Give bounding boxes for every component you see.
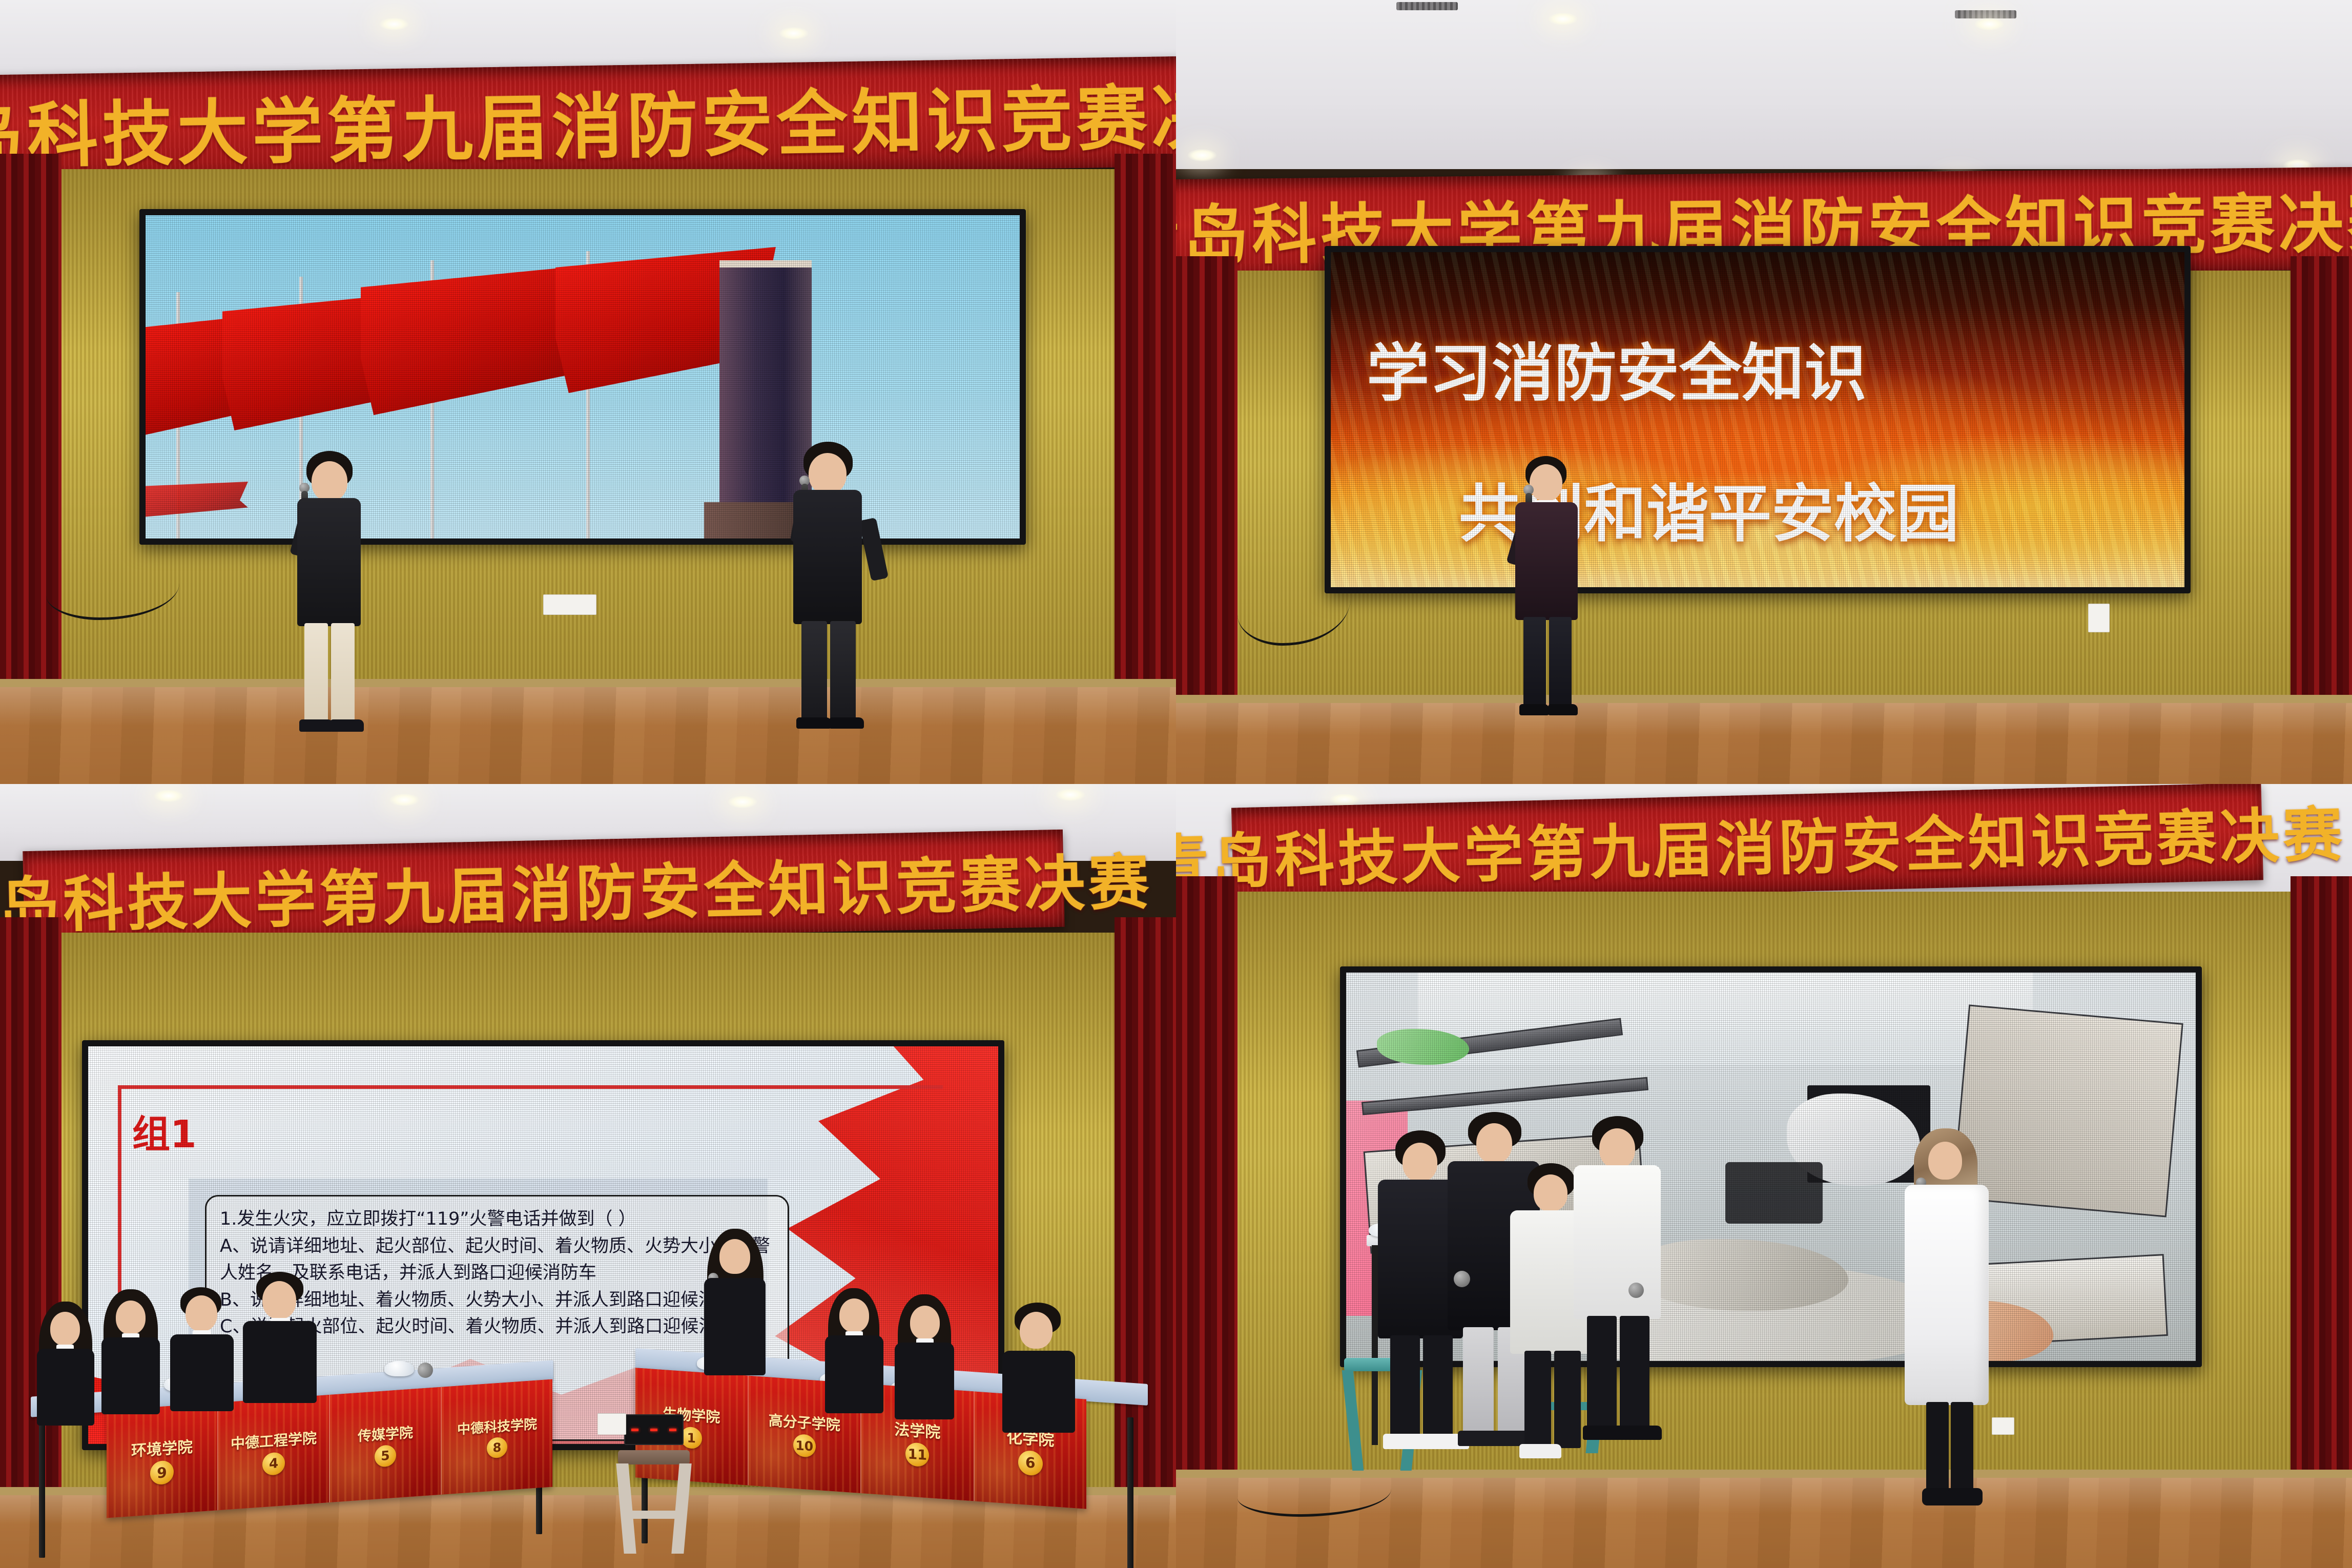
ceiling-light [1974, 17, 2004, 31]
buzzer-display [624, 1414, 684, 1445]
ceiling-light [1548, 12, 1578, 26]
contestant [93, 1289, 170, 1417]
ceiling-light [1187, 149, 1217, 162]
curtain-right [2291, 256, 2352, 707]
curtain-right [1115, 154, 1176, 697]
group-label: 组1 [132, 1104, 197, 1159]
panel-opening-performance: 青岛科技大学第九届消防安全知识竞赛决赛 [0, 0, 1176, 784]
curtain-left [1176, 256, 1237, 707]
wall-outlet [597, 1413, 626, 1435]
ceiling [1176, 0, 2352, 169]
team-sign: 中德科技学院 8 [442, 1379, 552, 1495]
wall-outlet [2088, 604, 2110, 632]
slogan-line-1: 学习消防安全知识 [1367, 323, 1867, 414]
ceiling-light [1056, 788, 1085, 801]
ceiling-light [379, 17, 409, 31]
host-singer [1499, 456, 1596, 723]
photo-collage: 青岛科技大学第九届消防安全知识竞赛决赛 [0, 0, 2352, 1568]
ceiling-light [154, 789, 183, 802]
contestant-standing [695, 1229, 777, 1383]
wall-outlet [1992, 1417, 2014, 1435]
event-banner: 青岛科技大学第九届消防安全知识竞赛决赛 [0, 56, 1176, 185]
singer-left [277, 451, 379, 738]
event-banner-text: 青岛科技大学第九届消防安全知识竞赛决赛 [0, 833, 1153, 946]
panel-interview-segment: 青岛科技大学第九届消防安全知识竞赛决赛 [1176, 784, 2352, 1568]
team-sign: 传媒学院 5 [330, 1387, 442, 1502]
contestant [886, 1294, 963, 1422]
stage-floor [0, 687, 1176, 784]
led-screen-flags [139, 209, 1026, 545]
singer-right [773, 442, 880, 739]
curtain-left [1176, 876, 1237, 1481]
contestant [996, 1303, 1083, 1436]
baseboard [0, 679, 1176, 687]
ceiling-light [779, 27, 809, 40]
contestant [163, 1287, 243, 1415]
stage-floor [1176, 703, 2352, 784]
baseboard [1176, 695, 2352, 703]
event-banner-text: 青岛科技大学第九届消防安全知识竞赛决赛 [0, 58, 1176, 183]
panel-quiz-round: 青岛科技大学第九届消防安全知识竞赛决赛 组1 1.发生火灾，应立即拨打“119”… [0, 784, 1176, 1568]
contestant [237, 1272, 324, 1415]
curtain-left [0, 154, 61, 697]
quiz-question: 1.发生火灾，应立即拨打“119”火警电话并做到（ ） [220, 1206, 774, 1233]
curtain-right [2291, 876, 2352, 1481]
host-white-coat [1890, 1128, 2003, 1518]
contestant [816, 1288, 893, 1416]
panel-host-introduction: 青岛科技大学第九届消防安全知识竞赛决赛 学习消防安全知识 共创和谐平安校园 [1176, 0, 2352, 784]
team-sign: 环境学院 9 [107, 1402, 218, 1518]
ceiling-light [728, 795, 757, 809]
buzzer-stool [613, 1450, 695, 1558]
student-4 [1565, 1116, 1668, 1470]
wall-outlet [543, 594, 596, 615]
led-screen-slogan: 学习消防安全知识 共创和谐平安校园 [1325, 246, 2191, 593]
ceiling-light [389, 793, 419, 807]
buzzer-button[interactable] [384, 1361, 414, 1376]
